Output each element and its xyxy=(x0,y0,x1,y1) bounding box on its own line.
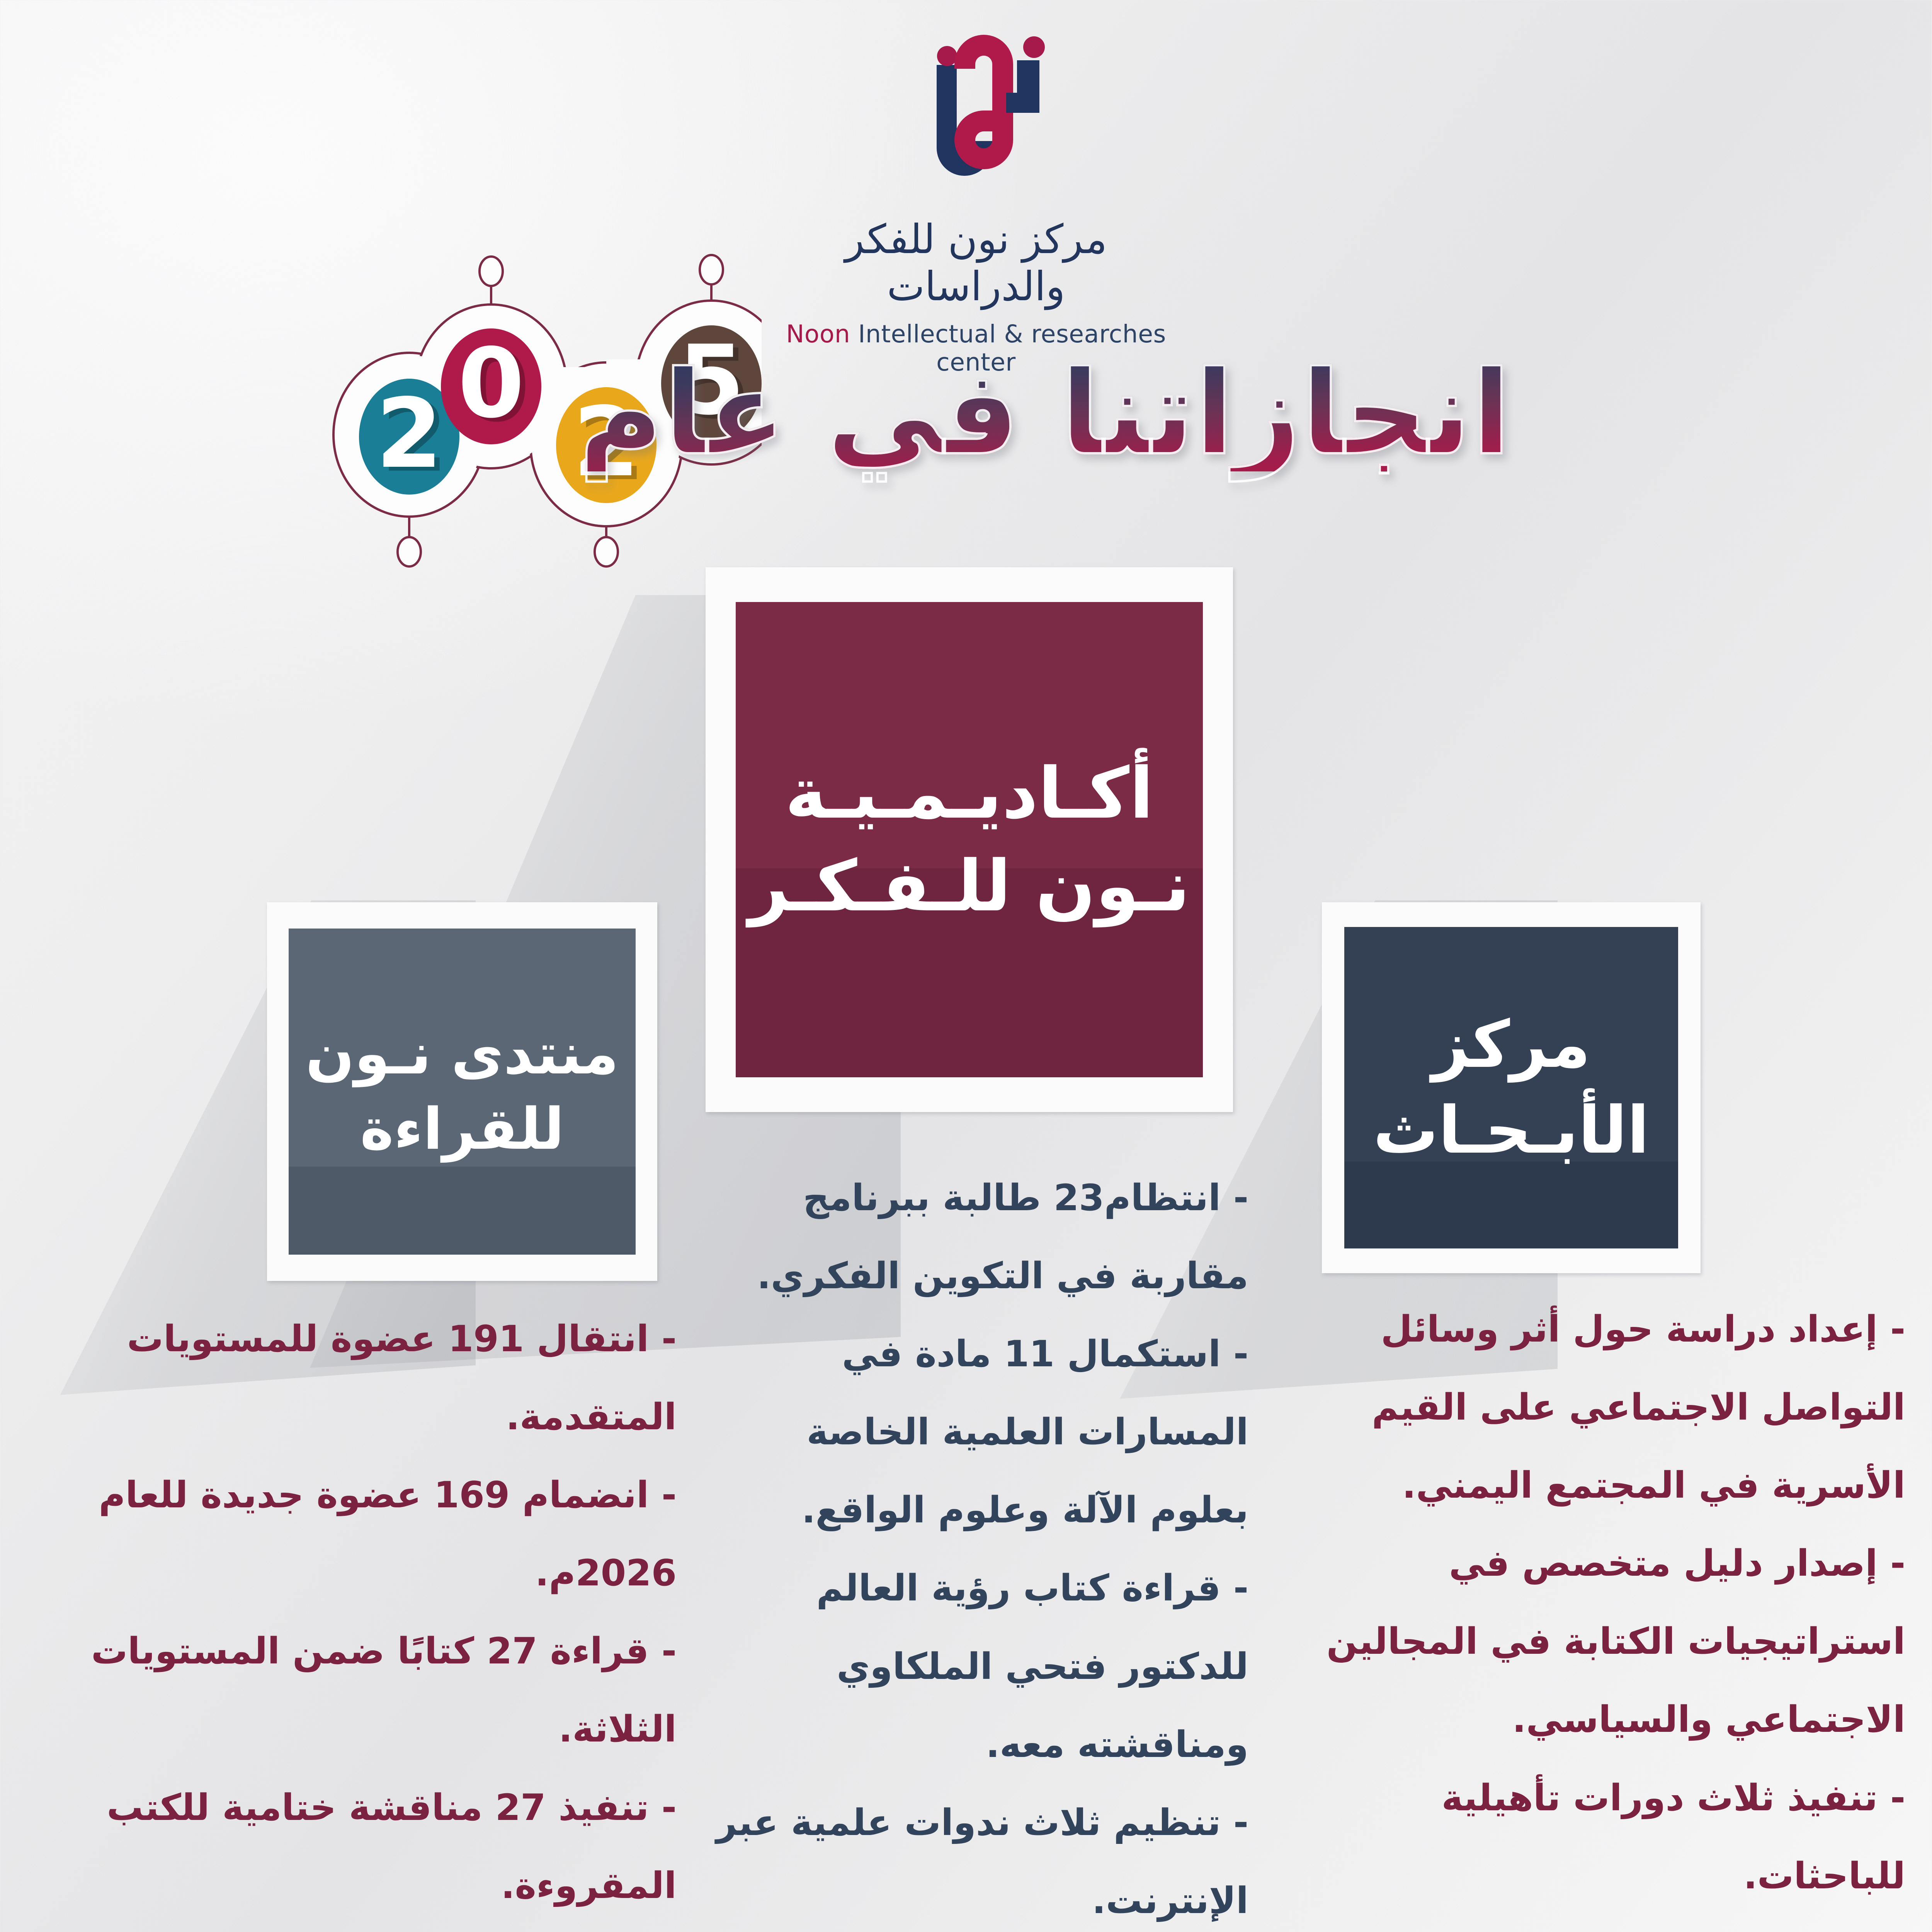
card-right-title: مركز الأبـحـاث xyxy=(1344,1002,1678,1173)
list-item: - تنفيذ ثلاث دورات تأهيلية للباحثات. xyxy=(1303,1759,1905,1915)
noon-logo-mark-icon xyxy=(764,23,1189,209)
list-left-items: - انتقال 191 عضوة للمستويات المتقدمة.- ا… xyxy=(74,1300,677,1932)
list-item: - انضمام 169 عضوة جديدة للعام 2026م. xyxy=(74,1456,677,1612)
card-center-title: أكـاديـمـيـة نـون للـفـكـر xyxy=(736,747,1203,932)
infographic-canvas: مركز نون للفكر والدراسات Noon Intellectu… xyxy=(0,0,1932,1932)
list-item: - تأهيل 15 عضوة في كتابة المقالات. xyxy=(74,1925,677,1932)
page-title-text: انجازاتنا في عام xyxy=(578,355,1511,471)
list-item: - تنفيذ 27 مناقشة ختامية للكتب المقروءة. xyxy=(74,1769,677,1925)
card-research-center[interactable]: مركز الأبـحـاث xyxy=(1322,902,1701,1273)
card-right-panel: مركز الأبـحـاث xyxy=(1344,927,1678,1248)
list-center-items: - انتظام23 طالبة ببرنامج مقاربة في التكو… xyxy=(707,1159,1248,1932)
list-item: - انتقال 191 عضوة للمستويات المتقدمة. xyxy=(74,1300,677,1456)
card-left-panel: منتدى نـون للقراءة xyxy=(289,929,636,1255)
list-item: - إصدار دليل متخصص في استراتيجيات الكتاب… xyxy=(1303,1525,1905,1759)
achievements-list-research: - إعداد دراسة حول أثر وسائل التواصل الاج… xyxy=(1303,1291,1905,1915)
list-item: - قراءة 27 كتابًا ضمن المستويات الثلاثة. xyxy=(74,1612,677,1769)
card-left-title: منتدى نـون للقراءة xyxy=(289,1016,636,1167)
achievements-list-academy: - انتظام23 طالبة ببرنامج مقاربة في التكو… xyxy=(707,1159,1248,1932)
card-center-panel: أكـاديـمـيـة نـون للـفـكـر xyxy=(736,602,1203,1077)
svg-text:2: 2 xyxy=(376,378,443,490)
list-item: - إعداد دراسة حول أثر وسائل التواصل الاج… xyxy=(1303,1291,1905,1525)
list-item: - تنظيم ثلاث ندوات علمية عبر الإنترنت. xyxy=(707,1784,1248,1932)
card-right-band xyxy=(1344,1162,1678,1248)
card-noon-reading-forum[interactable]: منتدى نـون للقراءة xyxy=(267,902,657,1281)
svg-text:0: 0 xyxy=(458,328,525,439)
list-item: - انتظام23 طالبة ببرنامج مقاربة في التكو… xyxy=(707,1159,1248,1315)
page-title: انجازاتنا في عام xyxy=(765,321,1511,506)
card-left-band xyxy=(289,1167,636,1255)
achievements-list-forum: - انتقال 191 عضوة للمستويات المتقدمة.- ا… xyxy=(74,1300,677,1932)
list-item: - استكمال 11 مادة في المسارات العلمية ال… xyxy=(707,1315,1248,1549)
list-right-items: - إعداد دراسة حول أثر وسائل التواصل الاج… xyxy=(1303,1291,1905,1915)
list-item: - قراءة كتاب رؤية العالم للدكتور فتحي ال… xyxy=(707,1549,1248,1784)
logo-arabic-name: مركز نون للفكر والدراسات xyxy=(764,216,1189,310)
card-noon-thought-academy[interactable]: أكـاديـمـيـة نـون للـفـكـر xyxy=(706,567,1233,1112)
